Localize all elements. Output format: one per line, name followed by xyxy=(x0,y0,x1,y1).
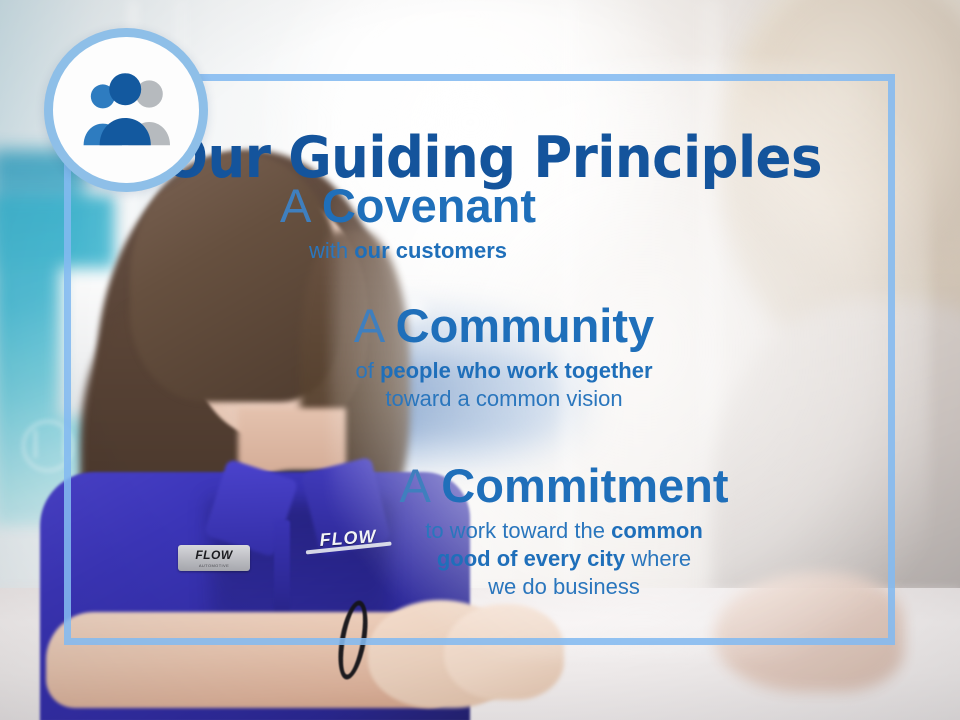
principle-community: A Community of people who work together … xyxy=(194,302,814,413)
principle-article: A xyxy=(399,459,441,512)
principle-heading: A Community xyxy=(194,302,814,351)
subtext-emphasis: good of every city xyxy=(437,546,625,571)
subtext-emphasis: our customers xyxy=(354,238,507,263)
people-group-icon xyxy=(74,71,178,149)
subtext-part: with xyxy=(309,238,354,263)
principle-subtext: with our customers xyxy=(128,237,688,265)
principle-heading: A Commitment xyxy=(244,462,884,511)
principle-article: A xyxy=(354,299,396,352)
subtext-part: we do business xyxy=(488,574,640,599)
subtext-emphasis: common xyxy=(611,518,703,543)
principle-subtext: to work toward the common good of every … xyxy=(244,517,884,601)
subtext-emphasis: people who work together xyxy=(380,358,653,383)
principle-keyword: Covenant xyxy=(322,179,536,232)
principle-keyword: Community xyxy=(396,299,655,352)
subtext-part: toward a common vision xyxy=(385,386,622,411)
principle-heading: A Covenant xyxy=(128,182,688,231)
banner-canvas: FLOW AUTOMOTIVE FLOW Our Guiding Princip… xyxy=(0,0,960,720)
principle-subtext: of people who work together toward a com… xyxy=(194,357,814,413)
principle-commitment: A Commitment to work toward the common g… xyxy=(244,462,884,601)
people-badge xyxy=(44,28,208,192)
principle-keyword: Commitment xyxy=(441,459,728,512)
principle-article: A xyxy=(280,179,322,232)
principle-covenant: A Covenant with our customers xyxy=(128,182,688,265)
subtext-part: of xyxy=(355,358,379,383)
subtext-part: to work toward the xyxy=(425,518,611,543)
subtext-part: where xyxy=(625,546,691,571)
